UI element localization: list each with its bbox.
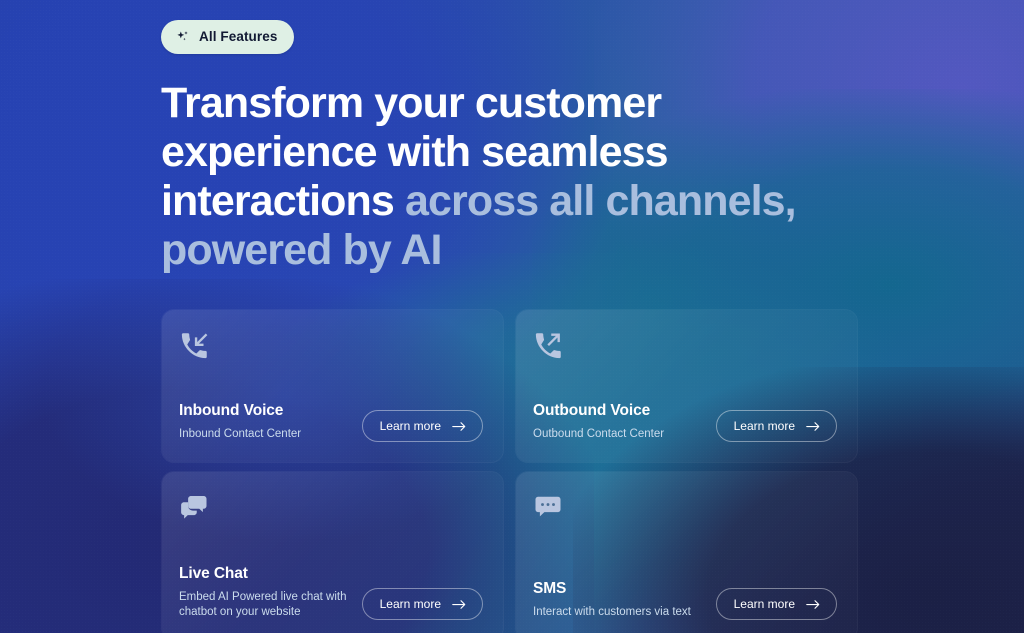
- headline-line-3-strong: interactions: [161, 177, 394, 225]
- card-footer: SMS Interact with customers via text Lea…: [533, 580, 837, 620]
- card-title: Live Chat: [179, 565, 352, 584]
- headline-line-1: Transform your customer: [161, 79, 661, 127]
- page-title: Transform your customer experience with …: [161, 79, 861, 275]
- learn-more-label: Learn more: [734, 598, 795, 610]
- headline-line-2: experience with seamless: [161, 128, 668, 176]
- card-text-block: Inbound Voice Inbound Contact Center: [179, 402, 301, 442]
- card-subtitle: Outbound Contact Center: [533, 427, 664, 442]
- feature-card-inbound-voice[interactable]: Inbound Voice Inbound Contact Center Lea…: [161, 309, 504, 463]
- sms-bubble-icon: [533, 493, 837, 529]
- card-spacer: [179, 529, 483, 565]
- feature-card-grid: Inbound Voice Inbound Contact Center Lea…: [161, 309, 858, 633]
- arrow-right-icon: [806, 421, 821, 432]
- feature-card-live-chat[interactable]: Live Chat Embed AI Powered live chat wit…: [161, 471, 504, 633]
- card-text-block: Live Chat Embed AI Powered live chat wit…: [179, 565, 352, 620]
- card-text-block: SMS Interact with customers via text: [533, 580, 691, 620]
- card-subtitle: Interact with customers via text: [533, 605, 691, 620]
- learn-more-button-inbound-voice[interactable]: Learn more: [362, 410, 483, 442]
- headline-line-3-muted: across all channels,: [394, 177, 796, 225]
- card-title: SMS: [533, 580, 691, 599]
- card-title: Inbound Voice: [179, 402, 301, 421]
- learn-more-label: Learn more: [380, 420, 441, 432]
- arrow-right-icon: [452, 421, 467, 432]
- card-footer: Outbound Voice Outbound Contact Center L…: [533, 402, 837, 442]
- card-subtitle: Inbound Contact Center: [179, 427, 301, 442]
- phone-incoming-icon: [179, 331, 483, 367]
- learn-more-button-outbound-voice[interactable]: Learn more: [716, 410, 837, 442]
- card-spacer: [533, 367, 837, 402]
- learn-more-label: Learn more: [734, 420, 795, 432]
- card-title: Outbound Voice: [533, 402, 664, 421]
- feature-card-outbound-voice[interactable]: Outbound Voice Outbound Contact Center L…: [515, 309, 858, 463]
- learn-more-button-live-chat[interactable]: Learn more: [362, 588, 483, 620]
- feature-card-sms[interactable]: SMS Interact with customers via text Lea…: [515, 471, 858, 633]
- card-footer: Inbound Voice Inbound Contact Center Lea…: [179, 402, 483, 442]
- card-text-block: Outbound Voice Outbound Contact Center: [533, 402, 664, 442]
- headline-line-4-muted: powered by AI: [161, 226, 442, 274]
- phone-outgoing-icon: [533, 331, 837, 367]
- arrow-right-icon: [452, 599, 467, 610]
- badge-label: All Features: [199, 30, 277, 44]
- learn-more-label: Learn more: [380, 598, 441, 610]
- card-spacer: [533, 529, 837, 580]
- chat-bubbles-icon: [179, 493, 483, 529]
- card-footer: Live Chat Embed AI Powered live chat wit…: [179, 565, 483, 620]
- arrow-right-icon: [806, 599, 821, 610]
- page-content: All Features Transform your customer exp…: [0, 0, 1024, 633]
- card-subtitle: Embed AI Powered live chat with chatbot …: [179, 590, 352, 620]
- sparkle-icon: [175, 30, 190, 45]
- learn-more-button-sms[interactable]: Learn more: [716, 588, 837, 620]
- card-spacer: [179, 367, 483, 402]
- all-features-badge[interactable]: All Features: [161, 20, 294, 54]
